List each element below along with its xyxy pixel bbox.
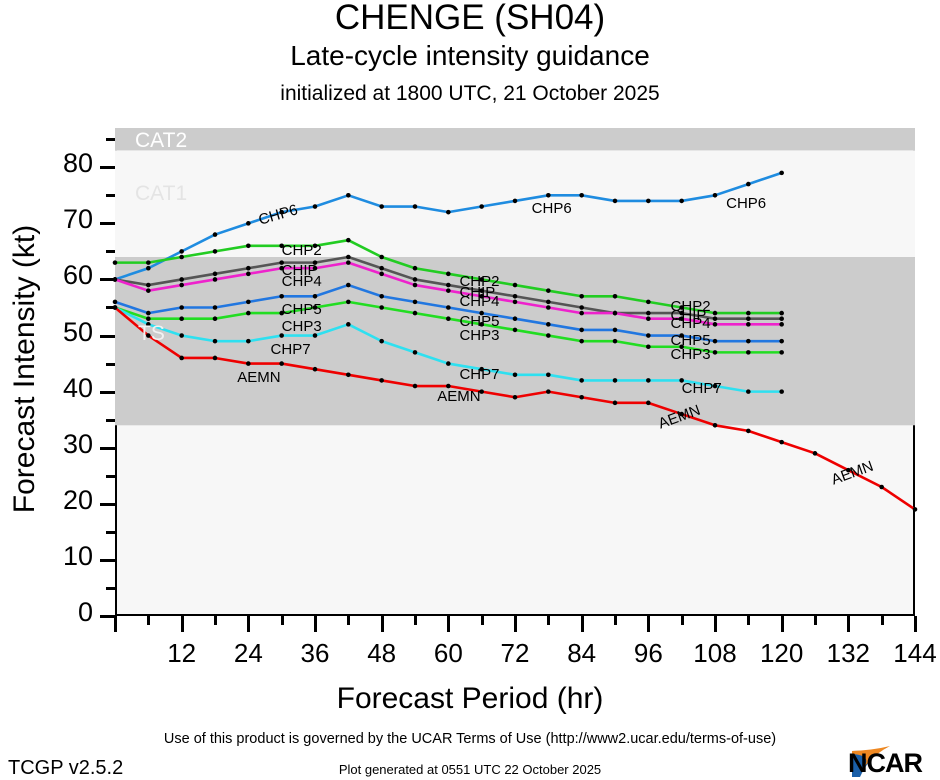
x-tick-label: 24 [213,638,283,669]
data-point [146,311,151,316]
data-point [346,283,351,288]
data-point [246,221,251,226]
data-point [713,322,718,327]
data-point [713,350,718,355]
data-point [779,350,784,355]
data-point [646,199,651,204]
series-label-chp4: CHP4 [671,315,711,332]
data-point [213,232,218,237]
data-point [613,311,618,316]
data-point [513,294,518,299]
data-point [779,389,784,394]
series-label-chp5: CHP5 [282,301,322,318]
x-tick-label: 60 [413,638,483,669]
x-axis-label: Forecast Period (hr) [0,682,940,716]
y-tick-label: 40 [23,373,93,404]
y-tick-label: 80 [23,148,93,179]
y-tick-mark [100,447,115,450]
x-tick-mark [681,616,684,625]
y-tick-mark [106,363,115,366]
x-tick-mark [847,616,850,632]
x-tick-mark [781,616,784,632]
x-tick-mark [414,616,417,625]
data-point [613,401,618,406]
data-point [146,322,151,327]
y-tick-mark [106,250,115,253]
data-point [146,260,151,265]
data-point [579,305,584,310]
x-tick-mark [547,616,550,625]
x-tick-label: 84 [547,638,617,669]
data-point [813,451,818,456]
data-point [779,171,784,176]
series-label-chp3: CHP3 [671,346,711,363]
y-tick-mark [106,138,115,141]
data-point [646,311,651,316]
plot-area: CAT2CAT1TS CHP6CHP6CHP6CHP2CHP2CHP2CHIPC… [115,128,915,616]
data-point [646,344,651,349]
data-point [146,316,151,321]
data-point [546,322,551,327]
series-label-chp2: CHP2 [282,242,322,259]
data-point [213,339,218,344]
data-point [146,288,151,293]
y-tick-mark [100,391,115,394]
data-point [213,277,218,282]
data-point [213,316,218,321]
data-point [679,199,684,204]
data-point [546,305,551,310]
x-tick-label: 96 [613,638,683,669]
data-point [646,300,651,305]
data-point [346,322,351,327]
data-point [413,311,418,316]
series-label-chp7: CHP7 [459,366,499,383]
data-point [213,356,218,361]
y-tick-label: 30 [23,429,93,460]
data-point [413,204,418,209]
y-tick-mark [106,419,115,422]
data-point [346,300,351,305]
data-point [546,333,551,338]
x-tick-mark [614,616,617,625]
data-point [446,283,451,288]
data-point [179,316,184,321]
x-tick-mark [881,616,884,625]
x-tick-mark [514,616,517,632]
x-tick-mark [914,616,917,632]
x-tick-mark [747,616,750,625]
series-label-chp7: CHP7 [682,380,722,397]
y-tick-mark [100,278,115,281]
data-point [779,440,784,445]
data-point [246,311,251,316]
data-point [579,328,584,333]
data-point [579,378,584,383]
data-point [579,339,584,344]
data-point [279,361,284,366]
data-point [779,311,784,316]
y-tick-mark [106,306,115,309]
data-point [413,277,418,282]
data-point [379,255,384,260]
y-tick-mark [100,559,115,562]
series-label-chp4: CHP4 [459,293,499,310]
data-point [646,378,651,383]
y-tick-label: 70 [23,204,93,235]
x-tick-mark [281,616,284,625]
data-point [379,272,384,277]
data-point [746,339,751,344]
data-point [513,199,518,204]
x-tick-mark [381,616,384,632]
data-point [213,272,218,277]
data-point [746,311,751,316]
data-point [379,305,384,310]
x-tick-mark [247,616,250,632]
y-tick-mark [106,194,115,197]
x-tick-label: 132 [813,638,883,669]
data-point [446,288,451,293]
series-label-aemn: AEMN [437,388,480,405]
series-label-chp3: CHP3 [459,327,499,344]
data-point [746,322,751,327]
data-point [713,339,718,344]
data-point [479,204,484,209]
y-tick-mark [100,222,115,225]
data-point [713,423,718,428]
intensity-guidance-chart: CHENGE (SH04) Late-cycle intensity guida… [0,0,940,780]
y-tick-mark [106,531,115,534]
series-label-aemn: AEMN [237,369,280,386]
x-tick-mark [581,616,584,632]
x-tick-mark [647,616,650,632]
x-tick-label: 120 [747,638,817,669]
y-tick-mark [100,615,115,618]
data-point [613,199,618,204]
data-point [579,193,584,198]
data-point [613,339,618,344]
x-tick-label: 72 [480,638,550,669]
data-point [346,255,351,260]
data-point [246,339,251,344]
data-point [346,260,351,265]
chart-init-time: initialized at 1800 UTC, 21 October 2025 [0,82,940,106]
series-label-chp6: CHP6 [726,195,766,212]
data-point [546,300,551,305]
x-tick-mark [447,616,450,632]
data-point [313,367,318,372]
data-point [579,294,584,299]
data-point [513,395,518,400]
data-point [779,339,784,344]
data-point [346,193,351,198]
data-point [913,507,918,512]
data-point [246,300,251,305]
data-point [546,389,551,394]
data-point [213,305,218,310]
data-point [446,361,451,366]
x-tick-mark [714,616,717,632]
data-point [613,328,618,333]
data-point [513,300,518,305]
data-point [379,266,384,271]
data-point [246,361,251,366]
data-point [113,300,118,305]
data-point [746,389,751,394]
series-label-chp4: CHP4 [282,273,322,290]
y-tick-mark [100,503,115,506]
data-point [379,204,384,209]
data-point [446,210,451,215]
data-point [713,311,718,316]
data-point [646,316,651,321]
data-point [246,243,251,248]
y-tick-mark [106,475,115,478]
data-point [146,333,151,338]
data-point [779,316,784,321]
y-tick-label: 0 [23,597,93,628]
data-point [379,294,384,299]
data-point [713,316,718,321]
y-tick-label: 20 [23,485,93,516]
data-point [413,283,418,288]
series-label-chp6: CHP6 [532,200,572,217]
x-tick-mark [181,616,184,632]
data-point [179,356,184,361]
series-label-chp7: CHP7 [271,341,311,358]
data-point [146,283,151,288]
x-tick-mark [147,616,150,625]
data-point [646,333,651,338]
data-point [646,401,651,406]
data-point [879,485,884,490]
data-point [513,283,518,288]
data-point [413,300,418,305]
series-label-chp3: CHP3 [282,318,322,335]
data-point [146,266,151,271]
x-tick-label: 144 [880,638,940,669]
page-title: CHENGE (SH04) [0,0,940,38]
x-tick-label: 36 [280,638,350,669]
data-point [113,260,118,265]
data-point [446,305,451,310]
series-lines [115,128,915,616]
x-tick-mark [314,616,317,632]
chart-subtitle: Late-cycle intensity guidance [0,40,940,72]
x-tick-mark [347,616,350,625]
data-point [246,266,251,271]
x-tick-label: 108 [680,638,750,669]
terms-of-use-text: Use of this product is governed by the U… [0,731,940,747]
data-point [613,294,618,299]
data-point [746,350,751,355]
data-point [513,373,518,378]
data-point [579,395,584,400]
data-point [513,328,518,333]
data-point [379,339,384,344]
data-point [179,305,184,310]
ncar-logo-text: NCAR [848,748,922,779]
data-point [713,193,718,198]
data-point [413,266,418,271]
x-tick-label: 48 [347,638,417,669]
y-tick-mark [106,587,115,590]
data-point [279,294,284,299]
data-point [179,249,184,254]
series-line-chp6 [115,173,782,280]
data-point [213,249,218,254]
data-point [313,294,318,299]
data-point [179,277,184,282]
data-point [746,316,751,321]
version-text: TCGP v2.5.2 [8,757,123,780]
x-tick-mark [114,616,117,632]
data-point [446,316,451,321]
x-tick-mark [814,616,817,625]
data-point [246,272,251,277]
y-tick-label: 60 [23,260,93,291]
y-tick-mark [100,166,115,169]
data-point [379,378,384,383]
data-point [746,182,751,187]
data-point [346,373,351,378]
y-tick-label: 10 [23,541,93,572]
data-point [613,378,618,383]
generated-text: Plot generated at 0551 UTC 22 October 20… [0,762,940,777]
x-tick-mark [214,616,217,625]
data-point [413,384,418,389]
data-point [546,288,551,293]
data-point [546,373,551,378]
x-tick-label: 12 [147,638,217,669]
data-point [179,255,184,260]
data-point [446,272,451,277]
data-point [579,311,584,316]
series-line-aemn [115,307,915,509]
x-tick-mark [481,616,484,625]
data-point [413,350,418,355]
data-point [779,322,784,327]
data-point [313,204,318,209]
data-point [179,283,184,288]
y-tick-label: 50 [23,317,93,348]
data-point [546,193,551,198]
data-point [346,238,351,243]
y-tick-mark [100,335,115,338]
data-point [513,316,518,321]
data-point [179,333,184,338]
data-point [746,429,751,434]
